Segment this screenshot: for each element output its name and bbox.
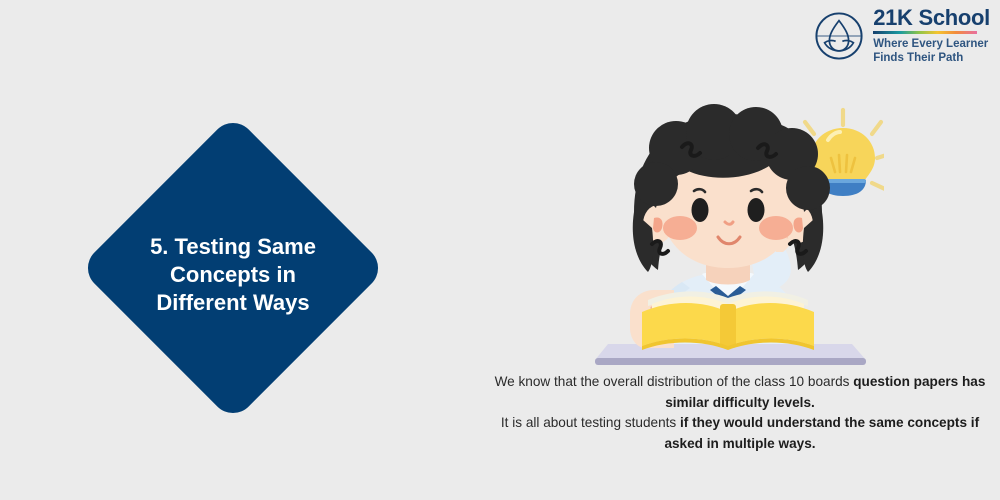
blush-right xyxy=(759,216,793,240)
open-book-shape xyxy=(642,291,814,350)
diamond-title-card: 5. Testing Same Concepts in Different Wa… xyxy=(70,115,396,421)
eye-left xyxy=(692,198,709,222)
logo-tagline: Where Every Learner Finds Their Path xyxy=(873,37,990,65)
logo-gradient-rule xyxy=(873,31,977,34)
logo-tagline-line-1: Where Every Learner xyxy=(873,37,990,51)
logo-tagline-line-2: Finds Their Path xyxy=(873,51,990,65)
eye-right xyxy=(748,198,765,222)
body-line-1: We know that the overall distribution of… xyxy=(490,372,990,413)
body-line-2: It is all about testing students if they… xyxy=(490,413,990,454)
blush-left xyxy=(663,216,697,240)
lotus-in-circle-icon xyxy=(814,11,864,61)
logo-title: 21K School xyxy=(873,6,990,29)
brand-logo: 21K School Where Every Learner Finds The… xyxy=(814,6,990,65)
body-line-1-normal: We know that the overall distribution of… xyxy=(495,374,854,389)
body-line-2-bold: if they would understand the same concep… xyxy=(664,415,979,451)
body-line-2-normal: It is all about testing students xyxy=(501,415,680,430)
logo-text-block: 21K School Where Every Learner Finds The… xyxy=(873,6,990,65)
illustration-girl-reading xyxy=(590,92,884,367)
section-title: 5. Testing Same Concepts in Different Wa… xyxy=(108,233,358,317)
body-paragraph: We know that the overall distribution of… xyxy=(490,372,990,455)
